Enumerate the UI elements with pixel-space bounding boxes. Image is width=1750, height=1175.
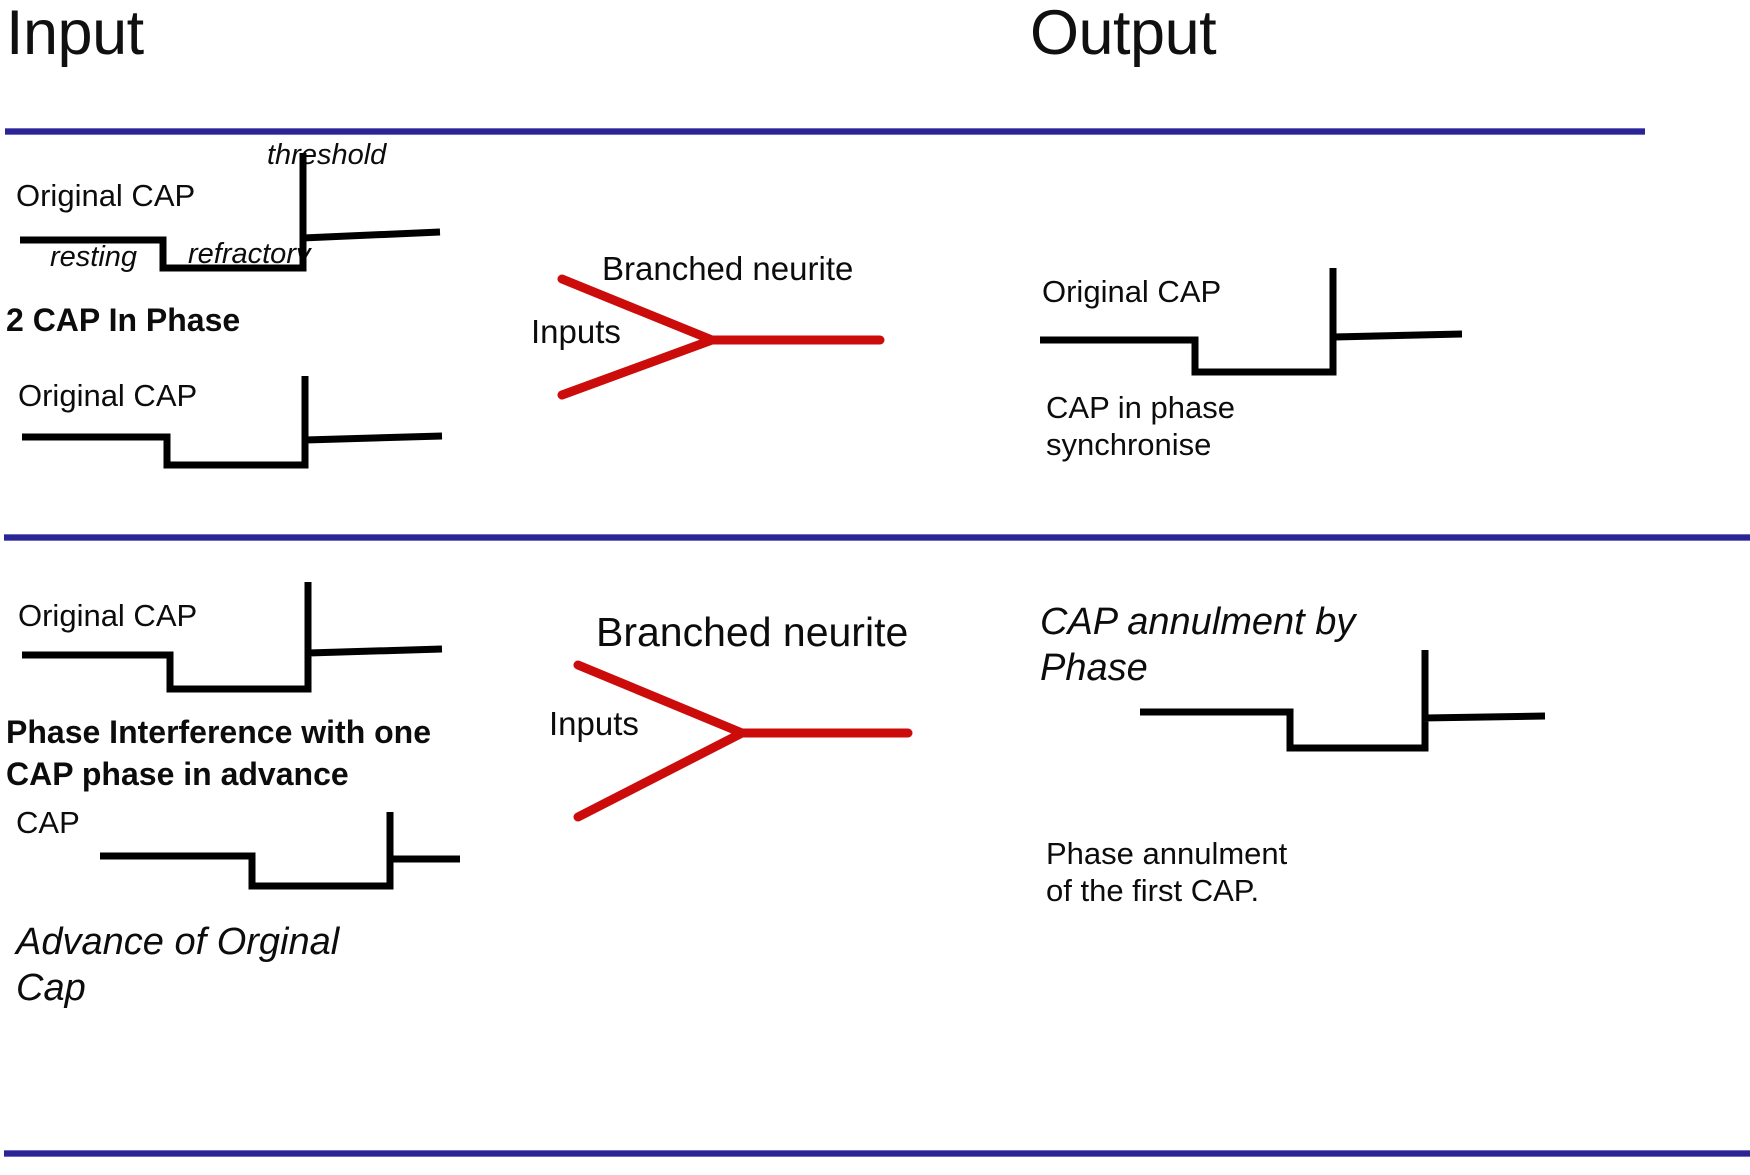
waveform-top-output xyxy=(1020,250,1490,390)
label-cap-bottom-2: CAP xyxy=(16,805,80,842)
section-label-line-2: CAP phase in advance xyxy=(6,754,436,796)
waveform-top-input-2 xyxy=(0,360,470,490)
divider-top xyxy=(5,128,1645,135)
caption-line-2: Cap xyxy=(16,966,406,1012)
wave-trace-path xyxy=(22,582,442,689)
divider-middle xyxy=(4,534,1750,541)
neurite-branch-lower xyxy=(562,340,712,395)
neurite-branch-lower xyxy=(578,733,742,817)
caption-line-1: Phase annulment xyxy=(1046,836,1476,873)
wave-trace-path xyxy=(22,376,442,465)
neurite-branch-upper xyxy=(578,665,742,733)
cap-phase-diagram: Input Output threshold Original CAP rest… xyxy=(0,0,1750,1175)
wave-trace-path xyxy=(100,812,460,886)
wave-trace-path xyxy=(1140,650,1545,748)
caption-line-2: of the first CAP. xyxy=(1046,873,1476,910)
neurite-top xyxy=(540,260,910,420)
section-label-2-cap-in-phase: 2 CAP In Phase xyxy=(6,302,240,340)
page-title-input: Input xyxy=(6,2,144,65)
waveform-bottom-input-2 xyxy=(80,795,480,915)
neurite-branch-upper xyxy=(562,279,712,340)
caption-line-1: Advance of Orginal xyxy=(16,920,406,966)
neurite-bottom xyxy=(556,645,936,845)
wave-trace-path xyxy=(1040,268,1462,372)
section-label-line-1: Phase Interference with one xyxy=(6,712,436,754)
caption-line-1: CAP in phase xyxy=(1046,390,1466,427)
caption-advance-of-orginal-cap: Advance of Orginal Cap xyxy=(16,920,406,1011)
caption-line-2: synchronise xyxy=(1046,427,1466,464)
wave-trace-path xyxy=(20,153,440,268)
caption-cap-in-phase-synchronise: CAP in phase synchronise xyxy=(1046,390,1466,463)
waveform-bottom-output xyxy=(1120,630,1580,770)
waveform-bottom-input-1 xyxy=(0,570,470,710)
caption-phase-annulment: Phase annulment of the first CAP. xyxy=(1046,836,1476,909)
section-label-phase-interference: Phase Interference with one CAP phase in… xyxy=(6,712,436,795)
page-title-output: Output xyxy=(1030,2,1216,65)
waveform-top-input-1 xyxy=(0,140,470,290)
divider-bottom xyxy=(4,1150,1750,1157)
